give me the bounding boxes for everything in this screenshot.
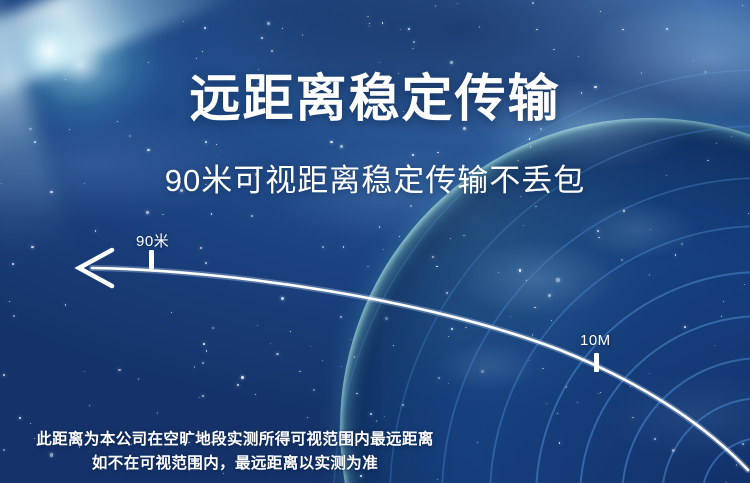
promo-banner: 远距离稳定传输 90米可视距离稳定传输不丢包 90米 10M 此距离为本公司在空… <box>0 0 750 483</box>
footnote: 此距离为本公司在空旷地段实测所得可视范围内最远距离 如不在可视范围内，最远距离以… <box>0 428 470 476</box>
distance-label-far: 90米 <box>136 230 169 251</box>
footnote-line-2: 如不在可视范围内，最远距离以实测为准 <box>0 452 470 476</box>
distance-label-near: 10M <box>580 332 611 349</box>
page-subtitle: 90米可视距离稳定传输不丢包 <box>0 155 750 200</box>
footnote-line-1: 此距离为本公司在空旷地段实测所得可视范围内最远距离 <box>0 428 470 452</box>
page-title: 远距离稳定传输 <box>0 72 750 126</box>
